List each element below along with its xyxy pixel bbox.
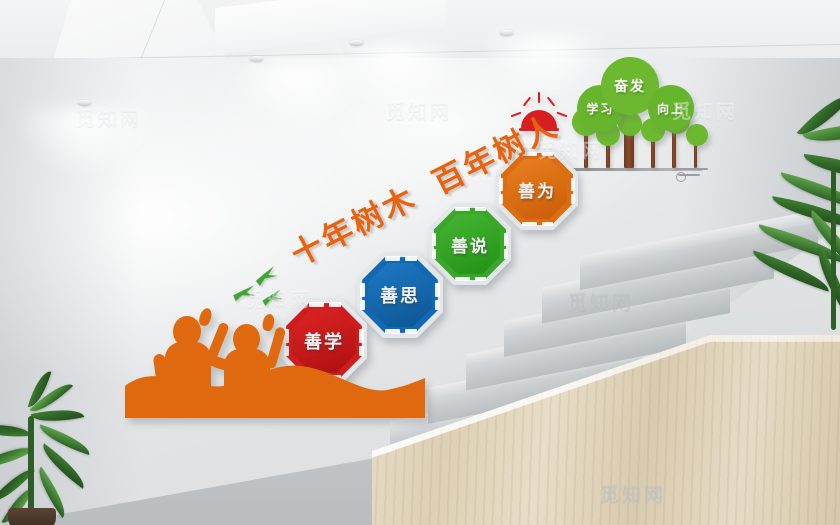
badge-label: 善说 [451, 232, 489, 257]
figure-arm-raised [265, 326, 286, 369]
watermark: 觅知网 [538, 136, 604, 163]
plant-stem [831, 170, 836, 330]
watermark: 觅知网 [672, 97, 738, 124]
stairwell-culture-wall-scene: 学习 奋发 向上 善为 [0, 0, 840, 525]
spotlight-fixture-2 [250, 56, 263, 61]
plant-left [0, 398, 146, 525]
watermark: 觅知网 [76, 104, 142, 131]
sun-ray [538, 92, 540, 103]
figure-hand [197, 307, 213, 328]
watermark: 觅知网 [568, 288, 634, 315]
watermark: 觅知网 [246, 285, 312, 312]
plant-stem [28, 416, 34, 512]
decor-line-long [674, 168, 708, 170]
plant-pot [8, 508, 56, 525]
watermark: 觅知网 [386, 97, 452, 124]
figure-hand [261, 313, 275, 332]
badge-label: 善为 [518, 177, 556, 202]
sun-ray [523, 97, 531, 107]
watermark: 觅知网 [600, 480, 666, 507]
sun-ray [547, 97, 555, 107]
spotlight-fixture-3 [350, 40, 363, 45]
sun-ray [556, 112, 567, 118]
plant-leaf [0, 422, 30, 439]
decor-ring [676, 172, 686, 182]
spotlight-fixture-4 [500, 30, 513, 35]
plant-right [745, 120, 840, 350]
